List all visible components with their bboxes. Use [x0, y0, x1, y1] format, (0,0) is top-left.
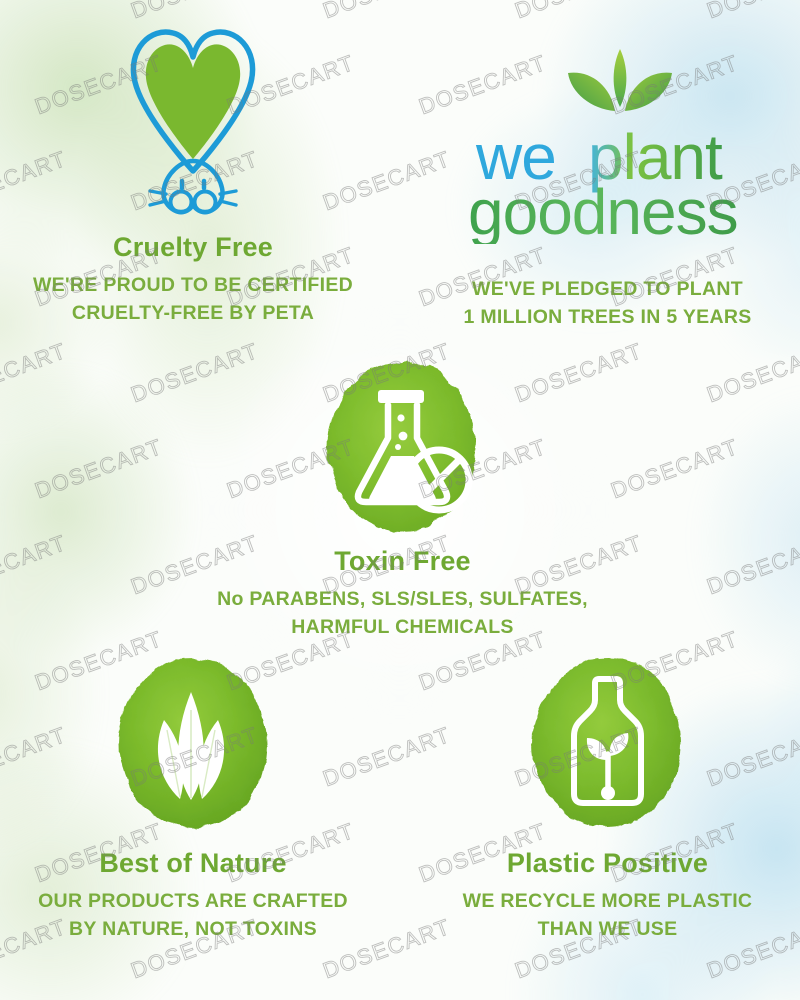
- desc-line: HARMFUL CHEMICALS: [215, 614, 590, 642]
- bottle-sprout-icon: [520, 648, 695, 838]
- we-plant-goodness-logo-wrap: we plant goodness: [420, 22, 795, 244]
- badge-cruelty-free: Cruelty Free WE'RE PROUD TO BE CERTIFIED…: [8, 22, 378, 327]
- we-plant-goodness-logo: we plant goodness: [458, 29, 758, 244]
- desc-line: No PARABENS, SLS/SLES, SULFATES,: [215, 586, 590, 614]
- badge-plastic-positive: Plastic Positive WE RECYCLE MORE PLASTIC…: [420, 648, 795, 943]
- badge-title: Toxin Free: [215, 546, 590, 577]
- three-leaves-icon: [106, 648, 281, 838]
- desc-line: THAN WE USE: [420, 916, 795, 944]
- badge-description: WE RECYCLE MORE PLASTIC THAN WE USE: [420, 888, 795, 943]
- flask-icon-wrap: [215, 352, 590, 542]
- badge-description: OUR PRODUCTS ARE CRAFTED BY NATURE, NOT …: [8, 888, 378, 943]
- desc-line: BY NATURE, NOT TOXINS: [8, 916, 378, 944]
- desc-line: WE RECYCLE MORE PLASTIC: [420, 888, 795, 916]
- infographic-page: Cruelty Free WE'RE PROUD TO BE CERTIFIED…: [0, 0, 800, 1000]
- desc-line: OUR PRODUCTS ARE CRAFTED: [8, 888, 378, 916]
- badge-title: Best of Nature: [8, 848, 378, 879]
- badge-title: Plastic Positive: [420, 848, 795, 879]
- badge-we-plant-goodness: we plant goodness WE'VE PLEDGED TO PLANT…: [420, 22, 795, 331]
- logo-word-goodness: goodness: [468, 176, 738, 244]
- leaves-icon-wrap: [8, 648, 378, 838]
- badge-best-of-nature: Best of Nature OUR PRODUCTS ARE CRAFTED …: [8, 648, 378, 943]
- bunny-heart-icon: [118, 22, 268, 222]
- badge-description: No PARABENS, SLS/SLES, SULFATES, HARMFUL…: [215, 586, 590, 641]
- sprout-leaves-icon: [568, 49, 672, 111]
- badge-toxin-free: Toxin Free No PARABENS, SLS/SLES, SULFAT…: [215, 352, 590, 641]
- badge-description: WE'VE PLEDGED TO PLANT 1 MILLION TREES I…: [420, 276, 795, 331]
- bottle-icon-wrap: [420, 648, 795, 838]
- desc-line: CRUELTY-FREE BY PETA: [8, 300, 378, 328]
- badge-title: Cruelty Free: [8, 232, 378, 263]
- flask-no-toxins-icon: [315, 352, 490, 542]
- desc-line: WE'VE PLEDGED TO PLANT: [420, 276, 795, 304]
- bunny-heart-icon-wrap: [8, 22, 378, 222]
- desc-line: WE'RE PROUD TO BE CERTIFIED: [8, 272, 378, 300]
- badges-grid: Cruelty Free WE'RE PROUD TO BE CERTIFIED…: [0, 0, 800, 1000]
- badge-description: WE'RE PROUD TO BE CERTIFIED CRUELTY-FREE…: [8, 272, 378, 327]
- desc-line: 1 MILLION TREES IN 5 YEARS: [420, 304, 795, 332]
